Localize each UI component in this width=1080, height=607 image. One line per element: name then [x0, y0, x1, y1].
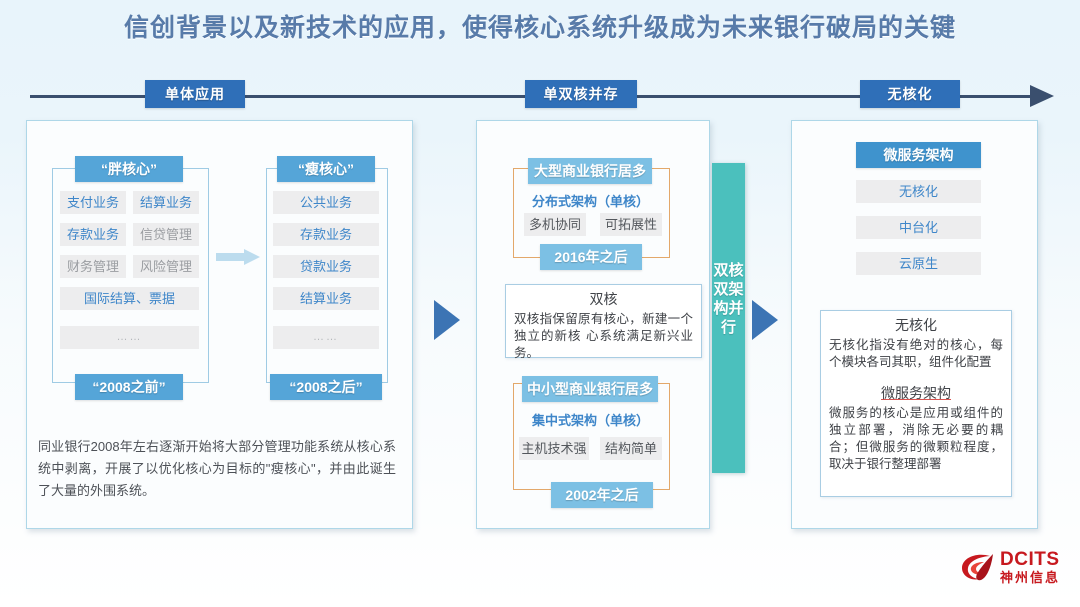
microservice-header: 微服务架构	[856, 142, 981, 168]
note-coreless-title-2: 微服务架构	[821, 383, 1011, 403]
list-item-ellipsis: ……	[60, 326, 199, 349]
group-large-bank-subtitle: 分布式架构（单核）	[513, 191, 668, 210]
teal-vertical-banner-label: 双核双架构并行	[712, 261, 745, 337]
tag-item[interactable]: 结构简单	[600, 437, 662, 460]
brand-logo: DCITS 神州信息	[960, 548, 1070, 596]
note-coreless-body-2: 微服务的核心是应用或组件的独立部署，消除无必要的耦合；但微服务的微颗粒程度，取决…	[821, 405, 1011, 473]
list-item[interactable]: 无核化	[856, 180, 981, 203]
note-coreless-body-1: 无核化指没有绝对的核心，每个模块各司其职，组件化配置	[821, 337, 1011, 371]
note-coreless-title-1: 无核化	[821, 315, 1011, 335]
list-item[interactable]: 存款业务	[60, 223, 126, 246]
note-dual-core-body: 双核指保留原有核心，新建一个独立的新核 心系统满足新兴业务。	[506, 311, 701, 362]
brand-logo-text: DCITS 神州信息	[1000, 550, 1060, 586]
tag-item[interactable]: 多机协同	[524, 213, 586, 236]
group-large-bank-footer: 2016年之后	[540, 244, 642, 270]
note-coreless: 无核化 无核化指没有绝对的核心，每个模块各司其职，组件化配置 微服务架构 微服务…	[820, 310, 1012, 497]
tag-item[interactable]: 可拓展性	[600, 213, 662, 236]
column1-footnote: 同业银行2008年左右逐渐开始将大部分管理功能系统从核心系统中剥离，开展了以优化…	[38, 436, 396, 502]
stage-arrow-2-icon	[752, 300, 778, 340]
list-item[interactable]: 结算业务	[133, 191, 199, 214]
list-item[interactable]: 云原生	[856, 252, 981, 275]
list-item[interactable]: 公共业务	[273, 191, 379, 214]
note-dual-core-title: 双核	[506, 289, 701, 309]
timeline-stage-3[interactable]: 无核化	[860, 80, 960, 108]
brand-name-cn: 神州信息	[1000, 570, 1060, 586]
brand-name-en: DCITS	[1000, 550, 1060, 570]
list-item[interactable]: 贷款业务	[273, 255, 379, 278]
list-item[interactable]: 支付业务	[60, 191, 126, 214]
timeline-stage-1[interactable]: 单体应用	[145, 80, 245, 108]
group-thin-core-header: “瘦核心”	[277, 156, 375, 182]
note-dual-core: 双核 双核指保留原有核心，新建一个独立的新核 心系统满足新兴业务。	[505, 284, 702, 358]
stage-arrow-1-icon	[434, 300, 460, 340]
timeline-stage-2[interactable]: 单双核并存	[525, 80, 637, 108]
teal-vertical-banner: 双核双架构并行	[712, 163, 745, 473]
group-fat-core-footer: “2008之前”	[75, 374, 183, 400]
dcits-swirl-icon	[960, 552, 996, 584]
timeline: 单体应用 单双核并存 无核化	[30, 95, 1058, 98]
list-item[interactable]: 结算业务	[273, 287, 379, 310]
list-item-ellipsis: ……	[273, 326, 379, 349]
list-item[interactable]: 国际结算、票据	[60, 287, 199, 310]
slide-canvas: 信创背景以及新技术的应用，使得核心系统升级成为未来银行破局的关键 单体应用 单双…	[0, 0, 1080, 607]
list-item[interactable]: 信贷管理	[133, 223, 199, 246]
list-item[interactable]: 存款业务	[273, 223, 379, 246]
list-item[interactable]: 中台化	[856, 216, 981, 239]
page-title: 信创背景以及新技术的应用，使得核心系统升级成为未来银行破局的关键	[0, 8, 1080, 44]
group-small-bank-header: 中小型商业银行居多	[522, 376, 658, 402]
transition-arrow-icon	[216, 249, 260, 265]
right-arrow-icon	[1030, 85, 1054, 107]
tag-item[interactable]: 主机技术强	[519, 437, 589, 460]
list-item[interactable]: 风险管理	[133, 255, 199, 278]
group-thin-core-footer: “2008之后”	[270, 374, 382, 400]
list-item[interactable]: 财务管理	[60, 255, 126, 278]
group-small-bank-footer: 2002年之后	[551, 482, 653, 508]
group-small-bank-subtitle: 集中式架构（单核）	[513, 410, 668, 429]
group-fat-core-header: “胖核心”	[75, 156, 183, 182]
group-large-bank-header: 大型商业银行居多	[528, 158, 652, 184]
